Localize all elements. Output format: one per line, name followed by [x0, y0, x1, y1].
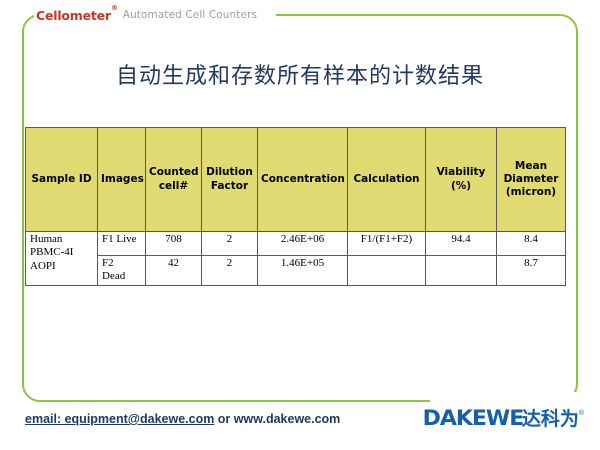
cell-concentration: 1.46E+05 — [258, 256, 348, 286]
column-header-dilution-factor: Dilution Factor — [202, 128, 258, 232]
cell-counted-cell: 708 — [146, 232, 202, 256]
slide-canvas: Cellometer® Automated Cell Counters 自动生成… — [0, 0, 600, 450]
dakewe-logo-latin: DAKEWE — [423, 406, 524, 430]
cell-dilution-factor: 2 — [202, 256, 258, 286]
cell-calculation: F1/(F1+F2) — [348, 232, 426, 256]
cell-sample-id: Human PBMC-4I AOPI — [26, 232, 98, 286]
brand-name-text: Cellometer — [36, 8, 111, 23]
registered-trademark-icon: ® — [111, 4, 118, 12]
brand-tagline: Automated Cell Counters — [123, 9, 257, 21]
table-header-row: Sample ID Images Counted cell# Dilution … — [26, 128, 566, 232]
table-row: Human PBMC-4I AOPI F1 Live 708 2 2.46E+0… — [26, 232, 566, 256]
cell-calculation — [348, 256, 426, 286]
email-link[interactable]: email: equipment@dakewe.com — [25, 412, 214, 426]
column-header-images: Images — [98, 128, 146, 232]
cell-counted-cell: 42 — [146, 256, 202, 286]
cell-images: F2 Dead — [98, 256, 146, 286]
cell-concentration: 2.46E+06 — [258, 232, 348, 256]
cell-mean-diameter: 8.4 — [497, 232, 566, 256]
cell-mean-diameter: 8.7 — [497, 256, 566, 286]
cell-dilution-factor: 2 — [202, 232, 258, 256]
results-table: Sample ID Images Counted cell# Dilution … — [25, 127, 566, 286]
column-header-concentration: Concentration — [258, 128, 348, 232]
dakewe-logo-chinese: 达科为 — [522, 404, 579, 431]
column-header-sample-id: Sample ID — [26, 128, 98, 232]
footer-website-text: or www.dakewe.com — [214, 412, 340, 426]
footer-contact: email: equipment@dakewe.com or www.dakew… — [25, 412, 340, 426]
cell-viability — [426, 256, 497, 286]
dakewe-logo: DAKEWE 达科为 ® — [425, 404, 584, 431]
brand-header: Cellometer® Automated Cell Counters — [36, 6, 257, 24]
cell-images: F1 Live — [98, 232, 146, 256]
registered-trademark-icon: ® — [579, 410, 584, 417]
column-header-counted-cell: Counted cell# — [146, 128, 202, 232]
brand-name: Cellometer® — [36, 8, 118, 23]
column-header-viability: Viability (%) — [426, 128, 497, 232]
column-header-mean-diameter: Mean Diameter (micron) — [497, 128, 566, 232]
page-title: 自动生成和存数所有样本的计数结果 — [0, 58, 600, 90]
cell-viability: 94.4 — [426, 232, 497, 256]
table-row: F2 Dead 42 2 1.46E+05 8.7 — [26, 256, 566, 286]
column-header-calculation: Calculation — [348, 128, 426, 232]
